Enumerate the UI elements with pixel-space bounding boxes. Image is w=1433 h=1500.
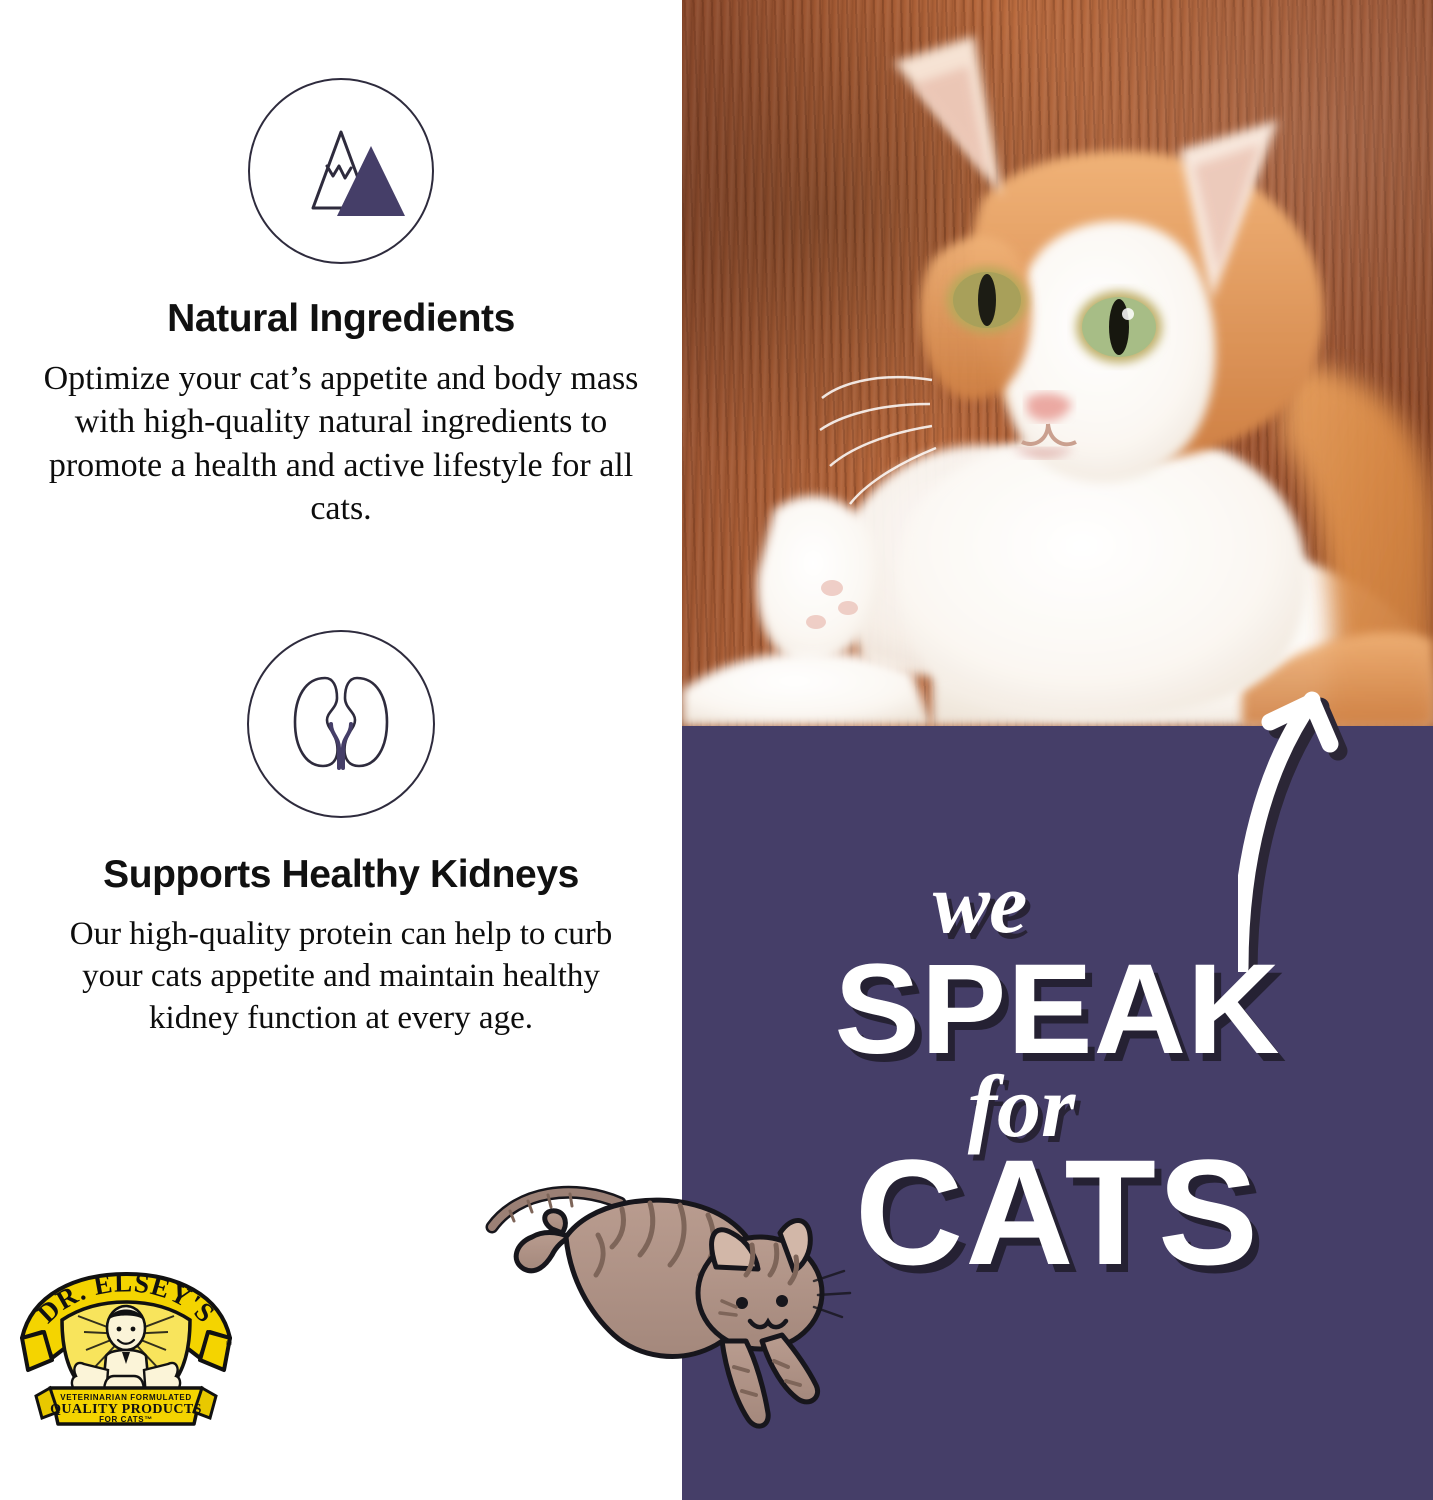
leaping-tabby-cat-illustration	[470, 1175, 870, 1465]
svg-text:VETERINARIAN FORMULATED: VETERINARIAN FORMULATED	[60, 1393, 191, 1402]
mountain-icon	[248, 78, 434, 264]
dr-elseys-logo: DR. ELSEY'S ® VETERINARIAN FORMULATED QU…	[14, 1272, 238, 1428]
feature-supports-healthy-kidneys: Supports Healthy Kidneys Our high-qualit…	[0, 630, 682, 1040]
product-infographic: Natural Ingredients Optimize your cat’s …	[0, 0, 1433, 1500]
feature-title: Natural Ingredients	[0, 298, 682, 341]
kidney-icon	[247, 630, 435, 818]
feature-body: Our high-quality protein can help to cur…	[61, 913, 621, 1040]
svg-text:®: ®	[226, 1339, 232, 1348]
promo-line-for: for	[646, 1064, 1397, 1152]
cat-subject	[682, 0, 1433, 726]
promo-line-speak: SPEAK	[682, 950, 1433, 1070]
feature-natural-ingredients: Natural Ingredients Optimize your cat’s …	[0, 78, 682, 531]
orange-white-cat-photo	[682, 0, 1433, 726]
promo-line-we: we	[604, 860, 1355, 946]
feature-body: Optimize your cat’s appetite and body ma…	[21, 357, 661, 531]
feature-title: Supports Healthy Kidneys	[0, 854, 682, 897]
svg-text:FOR CATS™: FOR CATS™	[99, 1415, 153, 1424]
